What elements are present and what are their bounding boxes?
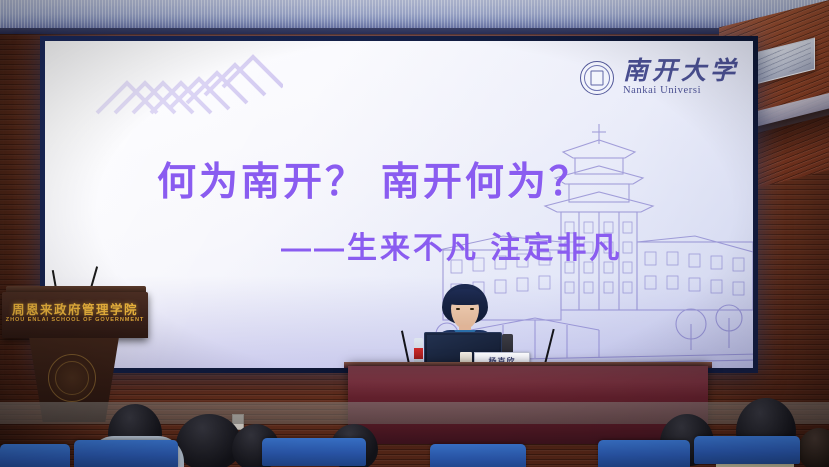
auditorium-seat bbox=[694, 436, 800, 464]
logo-chinese-name: 南开大学 bbox=[623, 59, 739, 84]
auditorium-seat bbox=[262, 438, 366, 466]
nankai-seal-icon bbox=[580, 61, 614, 95]
auditorium-seat bbox=[74, 440, 178, 467]
logo-text: 南开大学 Nankai Universi bbox=[623, 59, 739, 97]
podium-sign-panel: 周恩来政府管理学院 ZHOU ENLAI SCHOOL OF GOVERNMEN… bbox=[2, 292, 148, 338]
nankai-seal-icon bbox=[48, 354, 96, 402]
slide-title: 何为南开？ 南开何为？ bbox=[157, 151, 627, 207]
nankai-university-logo: 南开大学 Nankai Universi bbox=[580, 59, 739, 97]
water-bottle-label bbox=[414, 348, 423, 359]
podium-sign-chinese: 周恩来政府管理学院 bbox=[2, 299, 148, 318]
chevron-arrow-pattern-icon bbox=[93, 47, 283, 167]
slide-subtitle: ——生来不凡 注定非凡 bbox=[281, 223, 721, 267]
logo-english-name: Nankai Universi bbox=[623, 86, 739, 97]
speaker-fringe bbox=[445, 289, 485, 305]
auditorium-seat bbox=[598, 440, 690, 467]
ceiling-slats bbox=[0, 0, 829, 30]
speaker-eye bbox=[456, 308, 460, 310]
podium-sign-english: ZHOU ENLAI SCHOOL OF GOVERNMENT bbox=[2, 317, 148, 323]
ceiling bbox=[0, 0, 829, 30]
speaker-eye bbox=[470, 308, 474, 310]
auditorium-seat bbox=[0, 444, 70, 467]
projection-screen: 南开大学 Nankai Universi 何为南开？ 南开何为？ ——生来不凡 … bbox=[45, 41, 753, 368]
lecture-hall-photo: 南开大学 Nankai Universi 何为南开？ 南开何为？ ——生来不凡 … bbox=[0, 0, 829, 467]
auditorium-seat bbox=[430, 444, 526, 467]
